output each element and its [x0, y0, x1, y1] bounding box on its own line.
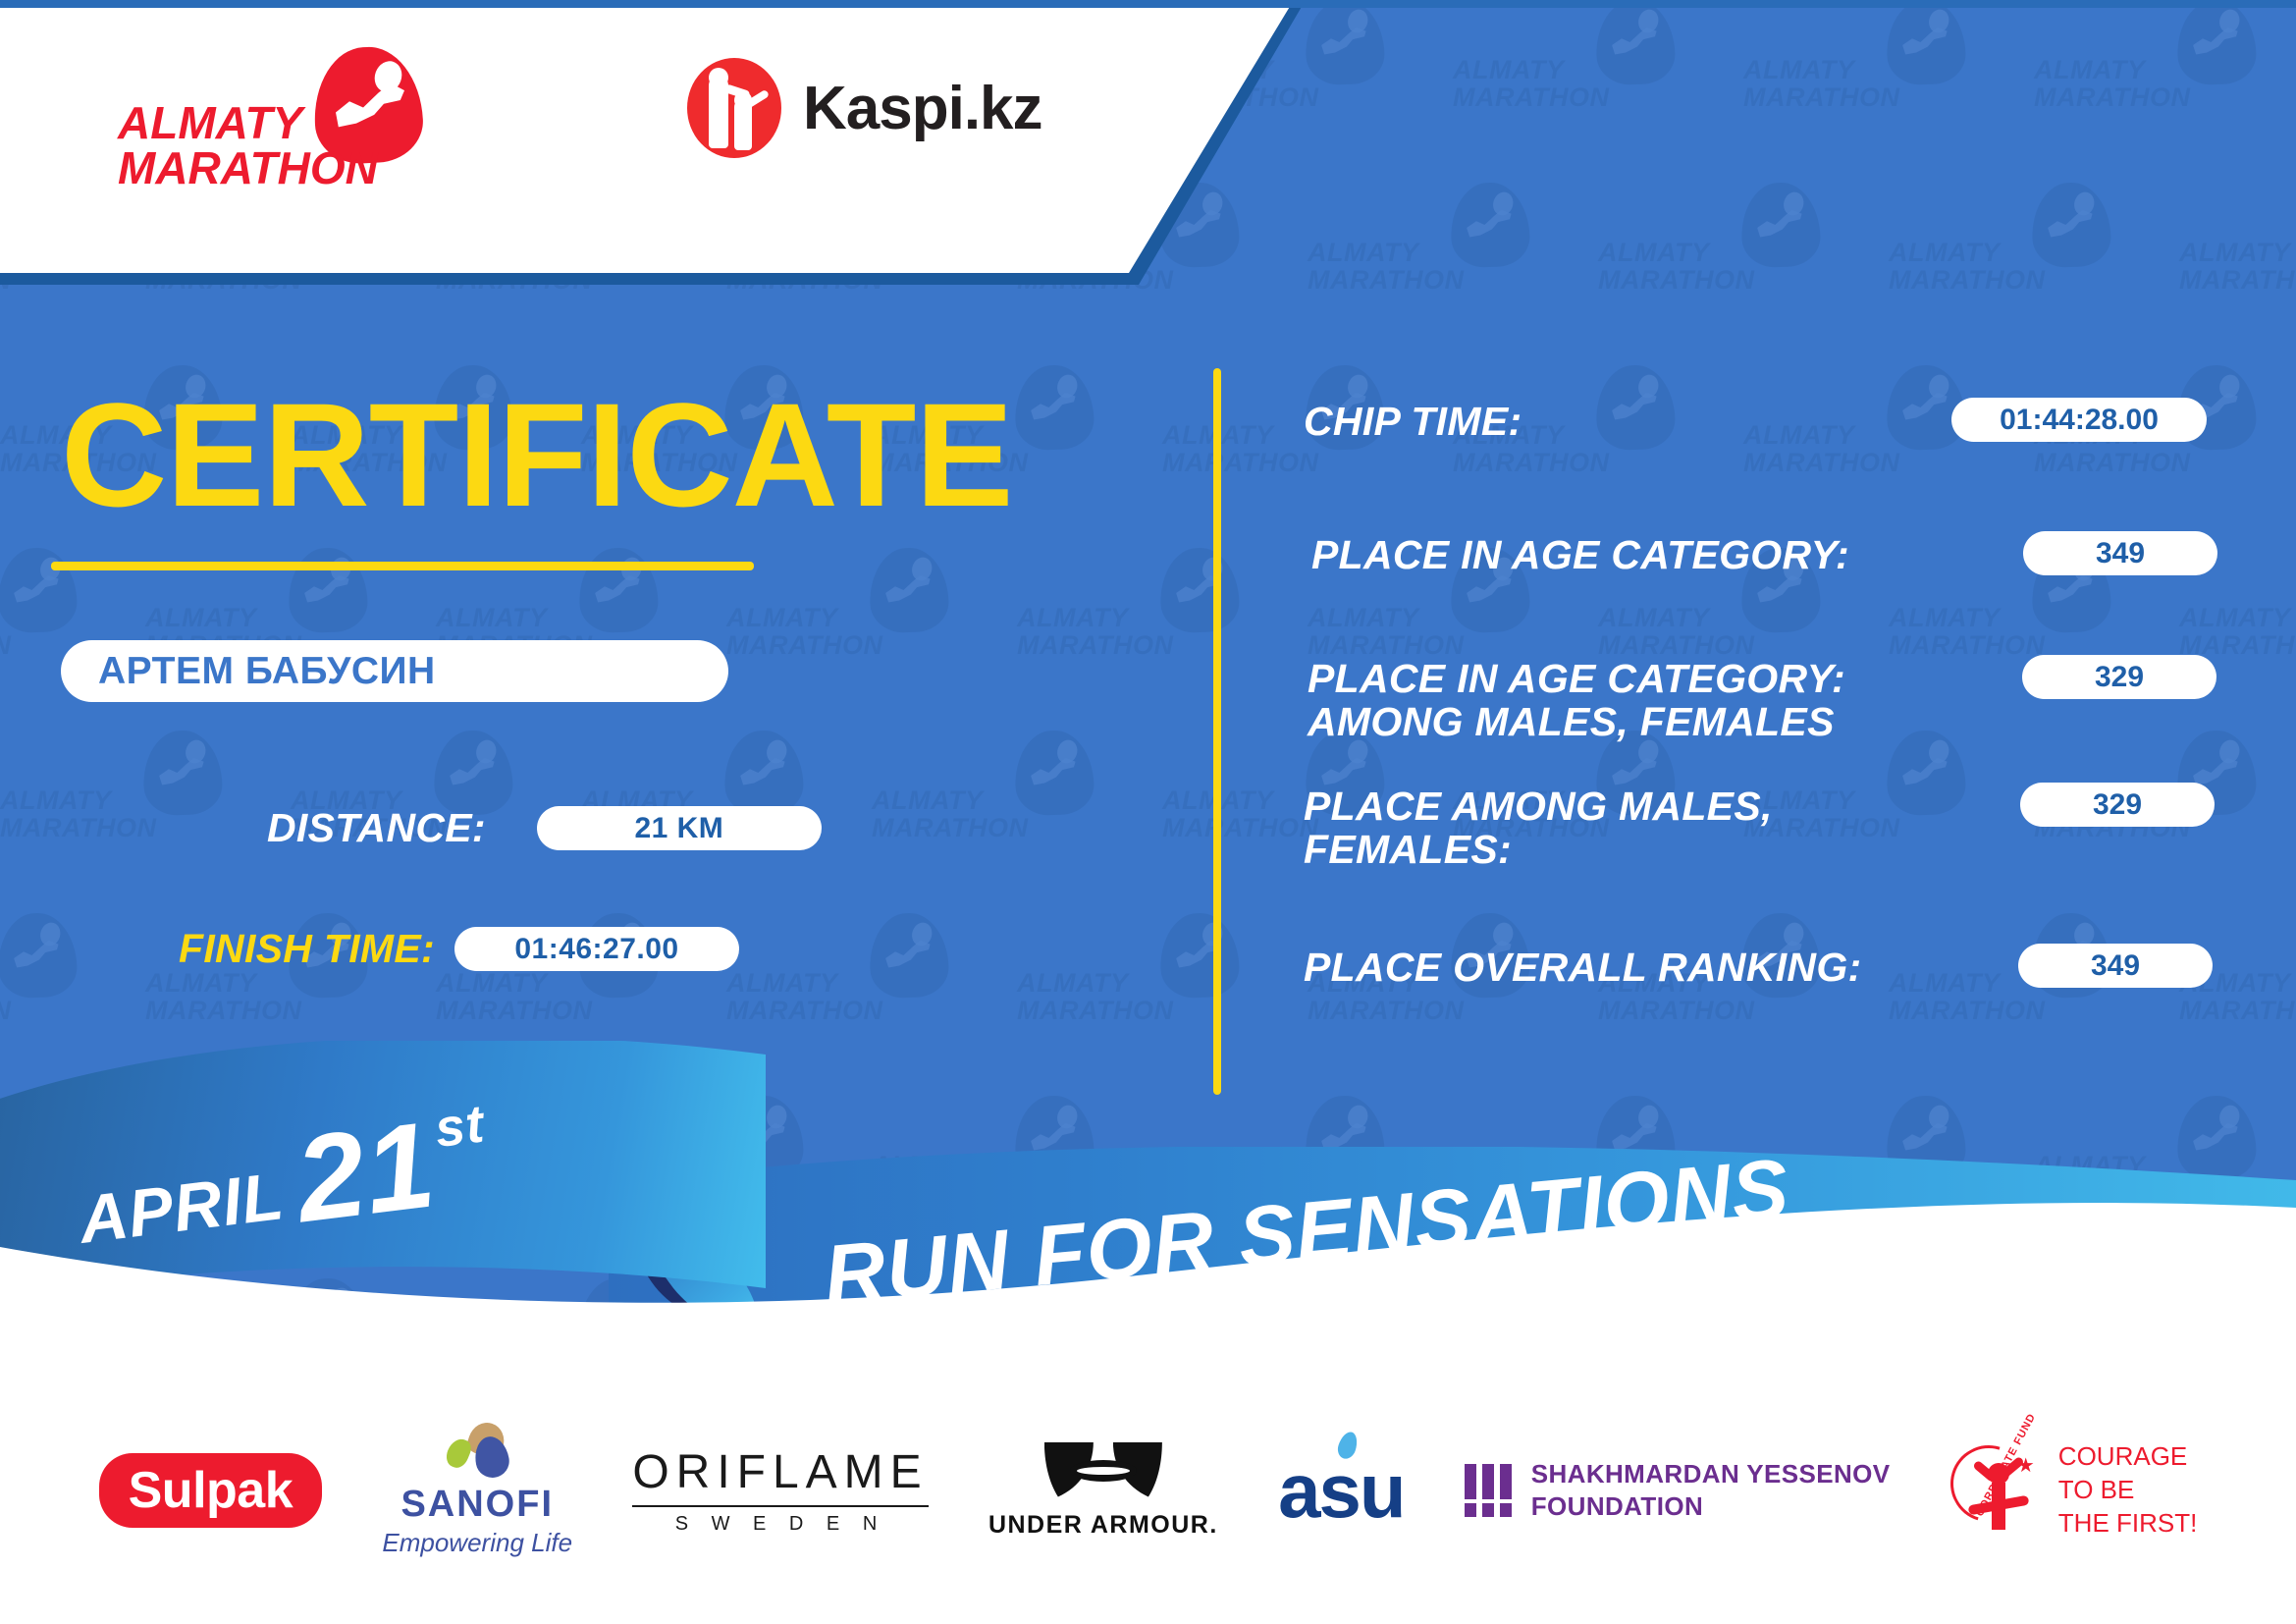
watermark-line2: MARATHON [1889, 265, 2045, 296]
sponsor-under-armour: UNDER ARMOUR. [988, 1422, 1218, 1559]
watermark-line2: MARATHON [1889, 996, 2045, 1026]
watermark-line1: ALMATY [436, 968, 547, 999]
page-title: CERTIFICATE [61, 381, 1013, 528]
finish-time-row: FINISH TIME: 01:46:27.00 [179, 926, 739, 972]
stat-label: PLACE AMONG MALES,FEMALES: [1304, 785, 1773, 872]
watermark-tile: ALMATYMARATHON [0, 913, 80, 1060]
watermark-tile: ALMATYMARATHON [1743, 0, 1969, 147]
watermark-drop-icon [2176, 0, 2258, 85]
sponsor-courage-line1: COURAGE [2058, 1440, 2198, 1474]
watermark-line1: ALMATY [0, 785, 111, 816]
watermark-drop-icon [1159, 547, 1241, 634]
watermark-line2: MARATHON [2179, 996, 2296, 1026]
watermark-drop-icon [1450, 182, 1531, 269]
distance-label: DISTANCE: [267, 805, 486, 851]
watermark-line2: MARATHON [0, 813, 156, 843]
watermark-tile: ALMATYMARATHON [0, 731, 226, 878]
sanofi-mark-icon [444, 1423, 510, 1478]
watermark-line1: ALMATY [145, 968, 256, 999]
watermark-line2: MARATHON [1743, 448, 1899, 478]
sponsor-oriflame-label: ORIFLAME [632, 1445, 928, 1499]
watermark-tile: ALMATYMARATHON [1743, 365, 1969, 513]
watermark-tile: ALMATYMARATHON [291, 731, 516, 878]
event-day: 21 [292, 1113, 441, 1231]
watermark-line2: MARATHON [0, 996, 11, 1026]
watermark-tile: ALMATYMARATHON [2179, 183, 2296, 330]
top-strip [0, 0, 2296, 8]
stat-label: PLACE IN AGE CATEGORY: [1311, 533, 1849, 576]
sponsor-courage-line3: THE FIRST! [2058, 1507, 2198, 1541]
sponsor-sanofi-label: SANOFI [400, 1484, 554, 1526]
sponsor-asu-label: asu [1278, 1446, 1404, 1536]
title-divider [51, 562, 754, 570]
stat-row-place-among-gender: PLACE AMONG MALES,FEMALES: 329 [1304, 785, 1773, 872]
watermark-drop-icon [1305, 0, 1386, 85]
sponsor-courage-label: COURAGE TO BE THE FIRST! [2058, 1440, 2198, 1540]
watermark-drop-icon [288, 547, 369, 634]
sponsor-strip: Sulpak SANOFI Empowering Life ORIFLAME S… [0, 1422, 2296, 1559]
almaty-marathon-logo: ALMATY MARATHON [118, 47, 452, 194]
stat-value: 329 [2022, 655, 2216, 699]
sponsor-oriflame-tagline: S W E D E N [632, 1505, 928, 1536]
certificate-canvas: ALMATYMARATHONALMATYMARATHONALMATYMARATH… [0, 0, 2296, 1624]
watermark-drop-icon [1740, 182, 1822, 269]
watermark-drop-icon [0, 912, 78, 1000]
watermark-line1: ALMATY [726, 603, 837, 633]
watermark-line1: ALMATY [1889, 238, 2000, 268]
watermark-line1: ALMATY [1308, 603, 1418, 633]
vertical-divider [1213, 368, 1221, 1095]
stat-value: 329 [2020, 783, 2215, 827]
watermark-tile: ALMATYMARATHON [1598, 183, 1824, 330]
watermark-drop-icon [869, 547, 950, 634]
stat-value: 01:44:28.00 [1951, 398, 2207, 442]
watermark-line1: ALMATY [1743, 55, 1854, 85]
watermark-drop-icon [723, 730, 805, 817]
sponsor-yessenov-line1: SHAKHMARDAN YESSENOV [1531, 1458, 1891, 1490]
stat-label: PLACE OVERALL RANKING: [1304, 946, 1861, 989]
distance-value: 21 KM [537, 806, 822, 850]
participant-name-field: АРТЕМ БАБУСИН [61, 640, 728, 702]
courage-fund-icon: CORPORATE FUND ★ [1950, 1441, 2045, 1540]
watermark-drop-icon [0, 547, 78, 634]
watermark-line1: ALMATY [872, 785, 983, 816]
watermark-drop-icon [142, 730, 224, 817]
watermark-line2: MARATHON [2034, 82, 2190, 113]
stat-value: 349 [2023, 531, 2217, 575]
watermark-line1: ALMATY [1598, 238, 1709, 268]
yessenov-mark-icon [1465, 1464, 1512, 1517]
watermark-line1: ALMATY [1017, 603, 1128, 633]
watermark-line2: MARATHON [1017, 630, 1173, 661]
sponsor-yessenov-foundation: SHAKHMARDAN YESSENOV FOUNDATION [1465, 1422, 1891, 1559]
watermark-line2: MARATHON [1017, 996, 1173, 1026]
watermark-tile: ALMATYMARATHON [2034, 0, 2260, 147]
watermark-line2: MARATHON [1162, 813, 1318, 843]
watermark-tile: ALMATYMARATHON [1017, 548, 1243, 695]
watermark-tile: ALMATYMARATHON [1889, 183, 2114, 330]
sponsor-sulpak: Sulpak [99, 1422, 323, 1559]
under-armour-logo-icon [1044, 1442, 1162, 1503]
stat-row-place-age-category-gender: PLACE IN AGE CATEGORY:AMONG MALES, FEMAL… [1308, 657, 1845, 744]
finish-time-label: FINISH TIME: [179, 926, 435, 972]
watermark-drop-icon [1886, 730, 1967, 817]
watermark-line2: MARATHON [1308, 265, 1464, 296]
watermark-drop-icon [578, 547, 660, 634]
sponsor-sulpak-label: Sulpak [99, 1453, 323, 1528]
stat-row-chip-time: CHIP TIME: 01:44:28.00 [1304, 400, 1522, 443]
watermark-line2: MARATHON [436, 996, 592, 1026]
watermark-tile: ALMATYMARATHON [581, 731, 807, 878]
sponsor-under-armour-label: UNDER ARMOUR. [988, 1511, 1218, 1540]
watermark-tile: ALMATYMARATHON [1743, 731, 1969, 878]
event-day-suffix: st [432, 1094, 488, 1161]
watermark-drop-icon [1014, 730, 1095, 817]
kaspi-people-icon [687, 58, 781, 158]
watermark-line1: ALMATY [1889, 968, 2000, 999]
watermark-tile: ALMATYMARATHON [1308, 183, 1533, 330]
watermark-drop-icon [1159, 912, 1241, 1000]
sponsor-courage-line2: TO BE [2058, 1474, 2198, 1507]
watermark-line1: ALMATY [1308, 238, 1418, 268]
sponsor-sanofi: SANOFI Empowering Life [382, 1422, 572, 1559]
stat-row-place-age-category: PLACE IN AGE CATEGORY: 349 [1311, 533, 1849, 576]
watermark-line1: ALMATY [726, 968, 837, 999]
sponsor-yessenov-label: SHAKHMARDAN YESSENOV FOUNDATION [1531, 1458, 1891, 1524]
watermark-line2: MARATHON [145, 996, 301, 1026]
watermark-tile: ALMATYMARATHON [1017, 913, 1243, 1060]
kaspi-logo-text: Kaspi.kz [803, 74, 1042, 143]
watermark-line1: ALMATY [1743, 420, 1854, 451]
watermark-line1: ALMATY [2179, 603, 2290, 633]
sponsor-asu: asu [1278, 1422, 1404, 1559]
watermark-line2: MARATHON [1743, 82, 1899, 113]
watermark-line2: MARATHON [1598, 265, 1754, 296]
watermark-tile: ALMATYMARATHON [726, 548, 952, 695]
watermark-drop-icon [1595, 364, 1677, 452]
watermark-line2: MARATHON [726, 996, 882, 1026]
finish-time-value: 01:46:27.00 [454, 927, 739, 971]
watermark-drop-icon [1595, 0, 1677, 85]
stat-row-place-overall: PLACE OVERALL RANKING: 349 [1304, 946, 1861, 989]
watermark-drop-icon [2031, 182, 2112, 269]
watermark-line2: MARATHON [872, 813, 1028, 843]
watermark-line1: ALMATY [1598, 603, 1709, 633]
watermark-line1: ALMATY [436, 603, 547, 633]
participant-name: АРТЕМ БАБУСИН [98, 650, 436, 693]
distance-row: DISTANCE: 21 KM [267, 805, 822, 851]
watermark-tile: ALMATYMARATHON [1453, 0, 1679, 147]
watermark-drop-icon [433, 730, 514, 817]
watermark-line1: ALMATY [1889, 603, 2000, 633]
sponsor-courage-fund: CORPORATE FUND ★ COURAGE TO BE THE FIRST… [1950, 1422, 2198, 1559]
sponsor-yessenov-line2: FOUNDATION [1531, 1490, 1891, 1523]
watermark-line1: ALMATY [1017, 968, 1128, 999]
watermark-line2: MARATHON [2034, 448, 2190, 478]
stat-label: CHIP TIME: [1304, 400, 1522, 443]
almaty-logo-line2: MARATHON [118, 141, 378, 194]
watermark-line2: MARATHON [726, 630, 882, 661]
watermark-drop-icon [1014, 364, 1095, 452]
sponsor-sanofi-tagline: Empowering Life [382, 1528, 572, 1558]
watermark-line1: ALMATY [2179, 238, 2290, 268]
watermark-tile: ALMATYMARATHON [872, 731, 1097, 878]
watermark-line2: MARATHON [1889, 630, 2045, 661]
watermark-line2: MARATHON [1453, 448, 1609, 478]
watermark-line1: ALMATY [1453, 55, 1564, 85]
watermark-line2: MARATHON [1598, 996, 1754, 1026]
watermark-line2: MARATHON [1308, 996, 1464, 1026]
stat-label: PLACE IN AGE CATEGORY:AMONG MALES, FEMAL… [1308, 657, 1845, 744]
watermark-tile: ALMATYMARATHON [726, 913, 952, 1060]
watermark-line2: MARATHON [1453, 82, 1609, 113]
kaspi-logo: Kaspi.kz [687, 59, 1042, 157]
watermark-line1: ALMATY [2034, 55, 2145, 85]
watermark-line2: MARATHON [0, 630, 11, 661]
watermark-line2: MARATHON [1162, 448, 1318, 478]
sponsor-oriflame: ORIFLAME S W E D E N [632, 1422, 928, 1559]
watermark-line1: ALMATY [145, 603, 256, 633]
watermark-drop-icon [869, 912, 950, 1000]
watermark-line2: MARATHON [2179, 265, 2296, 296]
stat-value: 349 [2018, 944, 2213, 988]
watermark-drop-icon [1886, 0, 1967, 85]
